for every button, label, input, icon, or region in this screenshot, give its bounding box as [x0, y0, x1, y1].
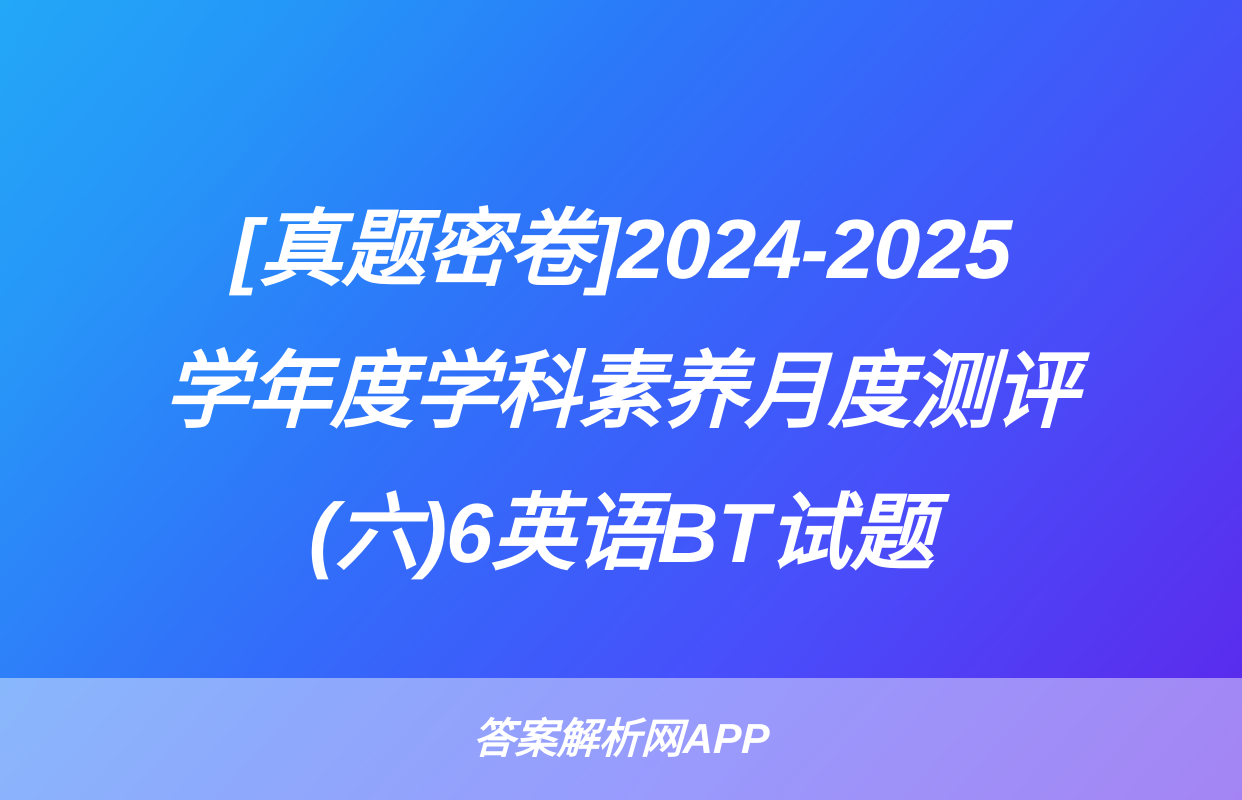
title-block: [真题密卷]2024-2025 学年度学科素养月度测评 (六)6英语BT试题 — [0, 178, 1242, 608]
exam-cover-image: [真题密卷]2024-2025 学年度学科素养月度测评 (六)6英语BT试题 答… — [0, 0, 1242, 800]
app-watermark-label: 答案解析网APP — [472, 716, 770, 762]
footer-band: 答案解析网APP — [0, 678, 1242, 800]
title-line-3: (六)6英语BT试题 — [307, 462, 934, 604]
title-line-2: 学年度学科素养月度测评 — [163, 320, 1078, 462]
title-line-1: [真题密卷]2024-2025 — [230, 178, 1011, 320]
